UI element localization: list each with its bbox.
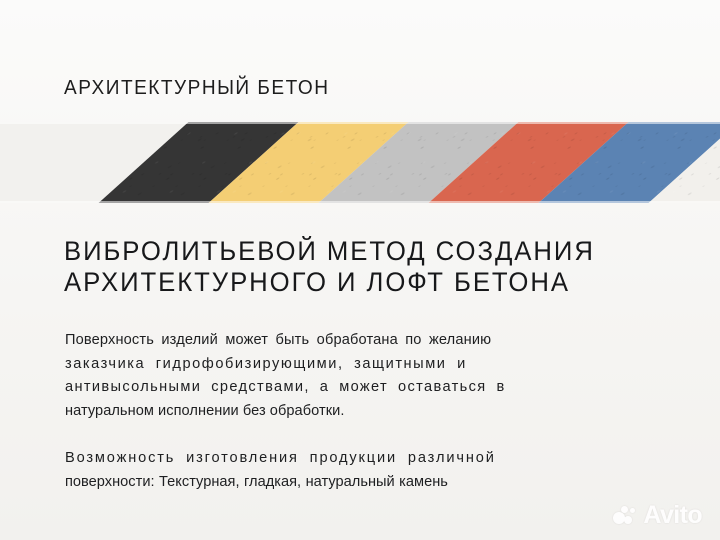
slide-headline: ВИБРОЛИТЬЕВОЙ МЕТОД СОЗДАНИЯ АРХИТЕКТУРН… [64,236,664,298]
kicker-text: АРХИТЕКТУРНЫЙ БЕТОН [64,76,622,100]
body-paragraph-2: Возможность изготовления продукции разли… [65,447,571,494]
band-bottom-edge [0,201,720,203]
paragraph-1-line-4: натуральном исполнении без обработки. [65,400,571,424]
avito-wordmark: Avito [643,504,702,526]
body-paragraph-1: Поверхность изделий может быть обработан… [65,329,571,423]
avito-dots-icon [613,504,639,526]
slide-kicker: АРХИТЕКТУРНЫЙ БЕТОН [64,76,664,110]
paragraph-1-line-2: заказчика гидрофобизирующими, защитными … [65,353,571,377]
slide-canvas: АРХИТЕКТУРНЫЙ БЕТОН ВИБРОЛИТЬЕВОЙ МЕТОД … [0,0,720,540]
band-top-edge [0,122,720,124]
paragraph-2-line-2: поверхности: Текстурная, гладкая, натура… [65,471,571,495]
avito-watermark: Avito [613,504,702,526]
headline-line-2: АРХИТЕКТУРНОГО И ЛОФТ БЕТОНА [64,267,646,298]
color-sample-band [0,122,720,203]
paragraph-1-line-3: антивысольными средствами, а может остав… [65,376,571,400]
paragraph-2-line-1: Возможность изготовления продукции разли… [65,447,571,471]
paragraph-1-line-1: Поверхность изделий может быть обработан… [65,329,571,353]
headline-line-1: ВИБРОЛИТЬЕВОЙ МЕТОД СОЗДАНИЯ [64,236,646,267]
